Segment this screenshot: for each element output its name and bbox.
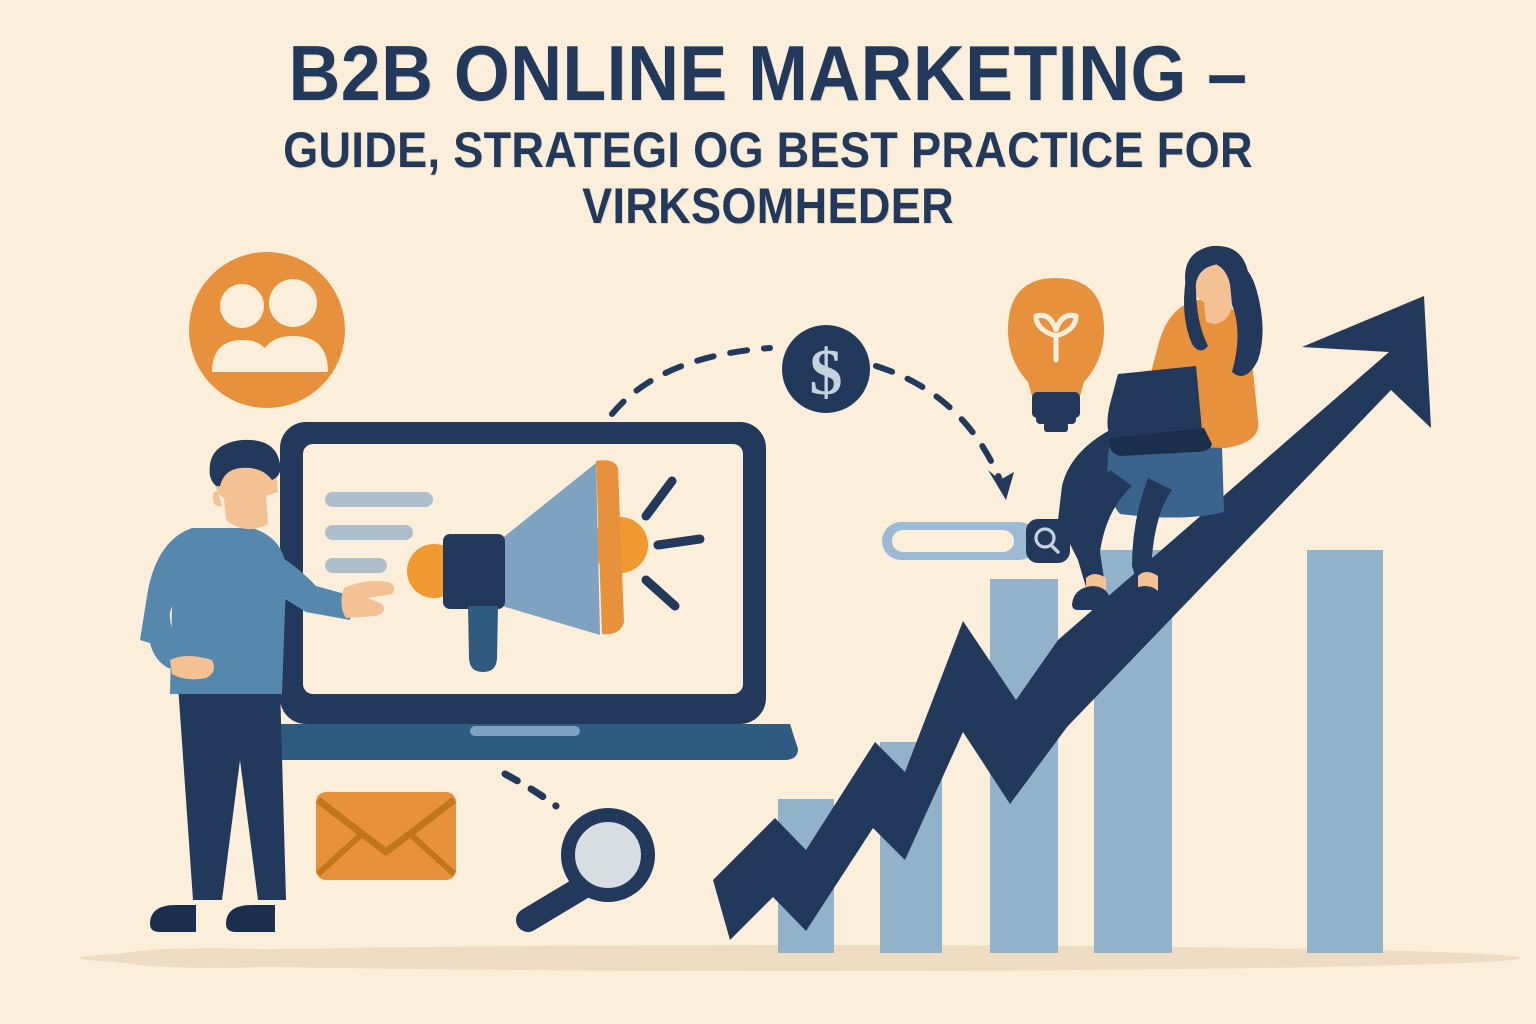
search-button-hotspot[interactable] <box>1026 519 1070 563</box>
man-shoe-right <box>226 905 275 932</box>
ground-shadow-left <box>110 948 320 968</box>
bar-5 <box>1307 550 1383 953</box>
illustration-canvas: $ <box>0 0 1536 1024</box>
dollar-coin-hotspot[interactable] <box>782 325 870 413</box>
man-hand-hip <box>170 656 214 679</box>
laptop-hotspot[interactable] <box>280 422 766 762</box>
dashed-flow-arrow-secondary <box>505 774 556 806</box>
bar-chart <box>778 550 1383 953</box>
lightbulb-hotspot[interactable] <box>1006 276 1106 434</box>
magnifier-hotspot[interactable] <box>520 808 650 928</box>
man-trousers <box>178 685 286 900</box>
man-shoe-left <box>150 905 196 932</box>
woman-laptop-lid <box>1107 366 1202 440</box>
dashed-flow-arrowhead <box>988 470 1014 500</box>
envelope-hotspot[interactable] <box>316 792 456 882</box>
illustration-artwork: $ <box>0 0 1536 1024</box>
people-icon-hotspot[interactable] <box>189 252 345 408</box>
